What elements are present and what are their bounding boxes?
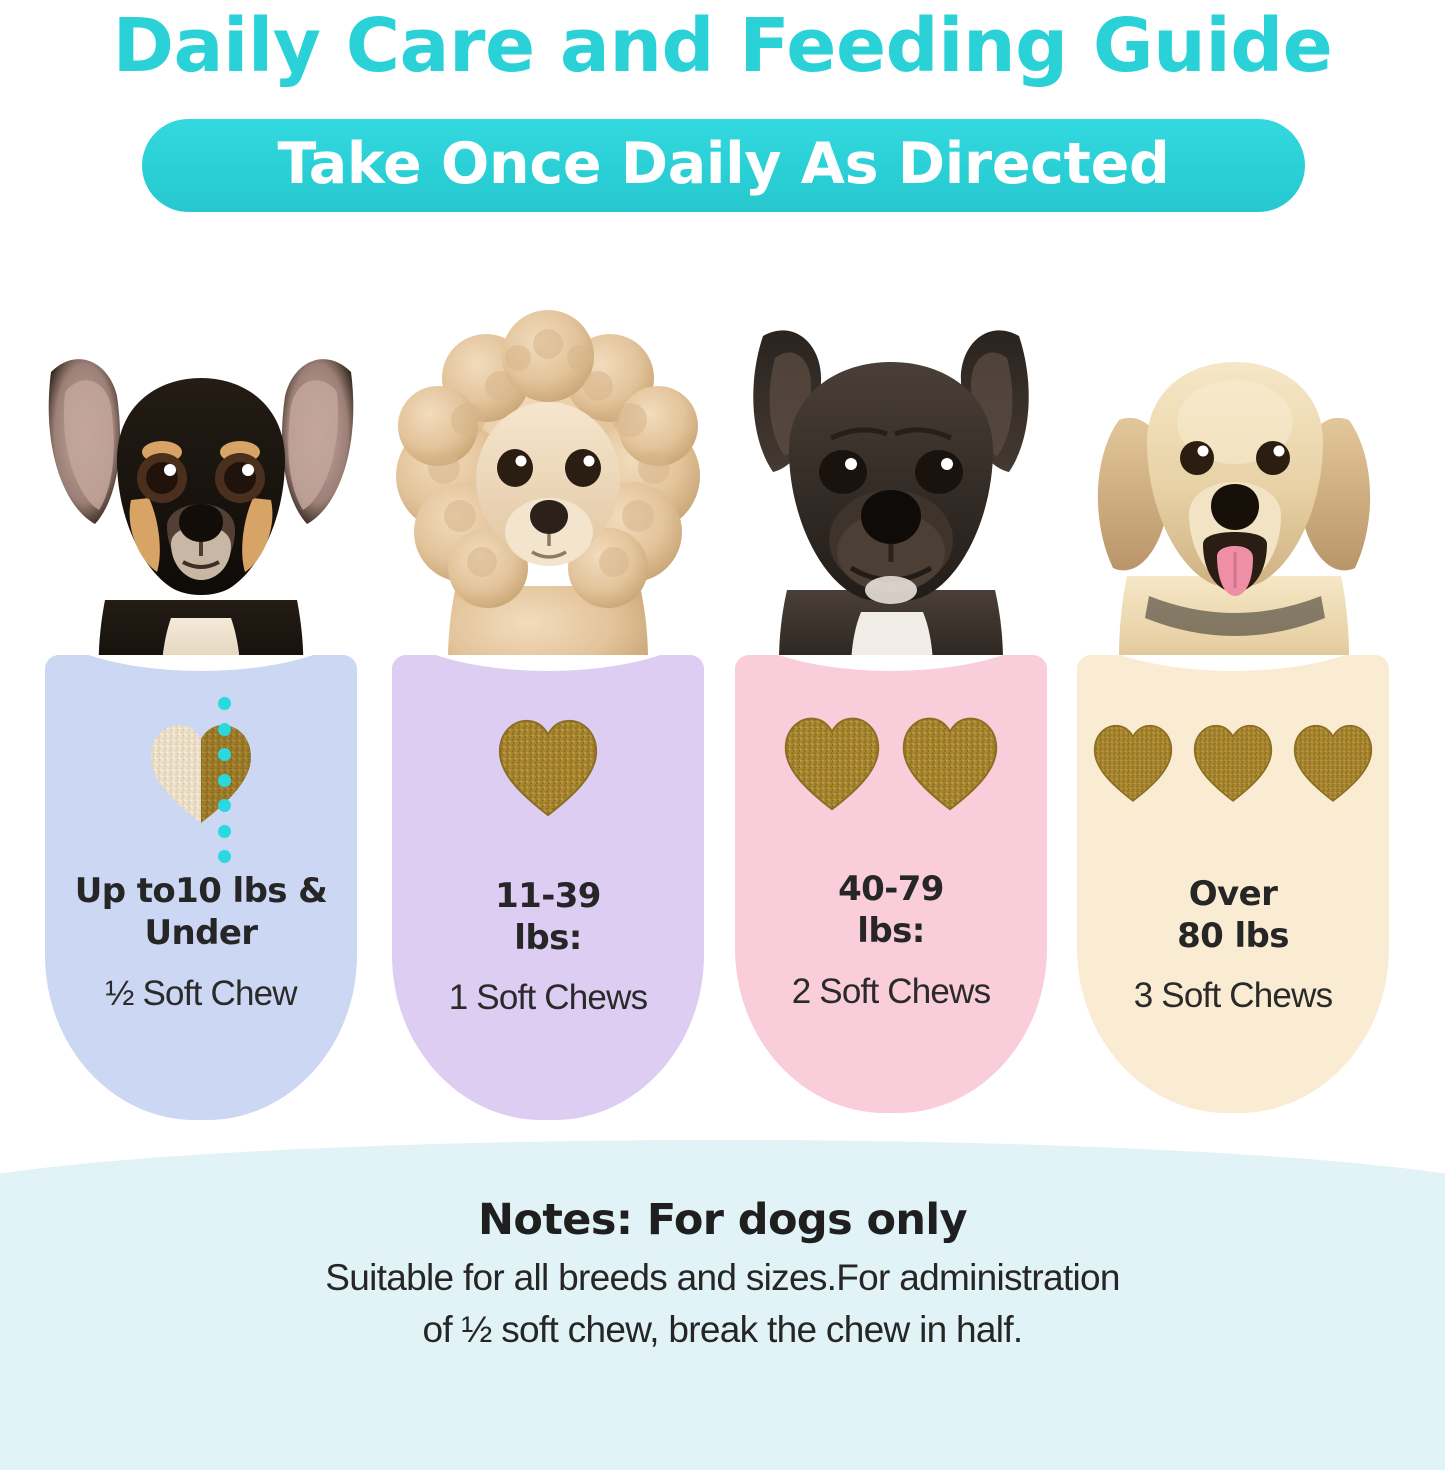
half-chew-divider-dots	[217, 697, 231, 863]
dog-photo-french-bulldog	[711, 300, 1071, 690]
pocket-card-2: 40-79 lbs: 2 Soft Chews	[735, 655, 1047, 1113]
dose-label-1: 1 Soft Chews	[392, 977, 704, 1019]
chew-row-3	[1077, 707, 1389, 817]
pocket-notch	[1077, 655, 1389, 671]
dosage-card-0: Up to10 lbs & Under ½ Soft Chew	[45, 0, 357, 1140]
weight-range-2: 40-79 lbs:	[735, 868, 1047, 952]
notes-band: Notes: For dogs only Suitable for all br…	[0, 1140, 1445, 1470]
dosage-card-2: 40-79 lbs: 2 Soft Chews	[735, 0, 1047, 1140]
heart-chew-icon	[898, 713, 1002, 813]
weight-line-2: lbs:	[735, 910, 1047, 952]
chew-row-1	[392, 707, 704, 827]
heart-chew-icon	[1190, 721, 1276, 804]
heart-chew-icon	[494, 715, 602, 819]
dose-label-2: 2 Soft Chews	[735, 971, 1047, 1013]
weight-line-1: Up to10 lbs &	[45, 870, 357, 912]
weight-line-1: Over	[1077, 873, 1389, 915]
heart-chew-icon	[1290, 721, 1376, 804]
weight-range-1: 11-39 lbs:	[392, 875, 704, 959]
weight-range-0: Up to10 lbs & Under	[45, 870, 357, 954]
pocket-card-3: Over 80 lbs 3 Soft Chews	[1077, 655, 1389, 1113]
weight-line-2: lbs:	[392, 917, 704, 959]
weight-range-3: Over 80 lbs	[1077, 873, 1389, 957]
chew-row-2	[735, 703, 1047, 823]
pocket-notch	[45, 655, 357, 671]
dog-photo-poodle	[368, 300, 728, 690]
heart-chew-icon	[1090, 721, 1176, 804]
heart-chew-icon	[780, 713, 884, 813]
dose-label-3: 3 Soft Chews	[1077, 975, 1389, 1017]
dosage-cards: Up to10 lbs & Under ½ Soft Chew	[0, 0, 1445, 1140]
notes-body: Suitable for all breeds and sizes.For ad…	[0, 1252, 1445, 1356]
weight-line-1: 11-39	[392, 875, 704, 917]
dosage-card-1: 11-39 lbs: 1 Soft Chews	[392, 0, 704, 1140]
weight-line-1: 40-79	[735, 868, 1047, 910]
pocket-notch	[392, 655, 704, 671]
notes-line-1: Suitable for all breeds and sizes.For ad…	[0, 1252, 1445, 1304]
pocket-notch	[735, 655, 1047, 671]
notes-line-2: of ½ soft chew, break the chew in half.	[0, 1304, 1445, 1356]
dog-photo-golden-retriever	[1053, 300, 1413, 690]
half-heart-chew-icon	[145, 719, 257, 827]
dog-photo-chihuahua	[21, 300, 381, 690]
notes-title: Notes: For dogs only	[0, 1195, 1445, 1245]
pocket-card-1: 11-39 lbs: 1 Soft Chews	[392, 655, 704, 1120]
chew-row-0	[45, 713, 357, 833]
dose-label-0: ½ Soft Chew	[45, 973, 357, 1015]
pocket-card-0: Up to10 lbs & Under ½ Soft Chew	[45, 655, 357, 1120]
weight-line-2: Under	[45, 912, 357, 954]
weight-line-2: 80 lbs	[1077, 915, 1389, 957]
dosage-card-3: Over 80 lbs 3 Soft Chews	[1077, 0, 1389, 1140]
